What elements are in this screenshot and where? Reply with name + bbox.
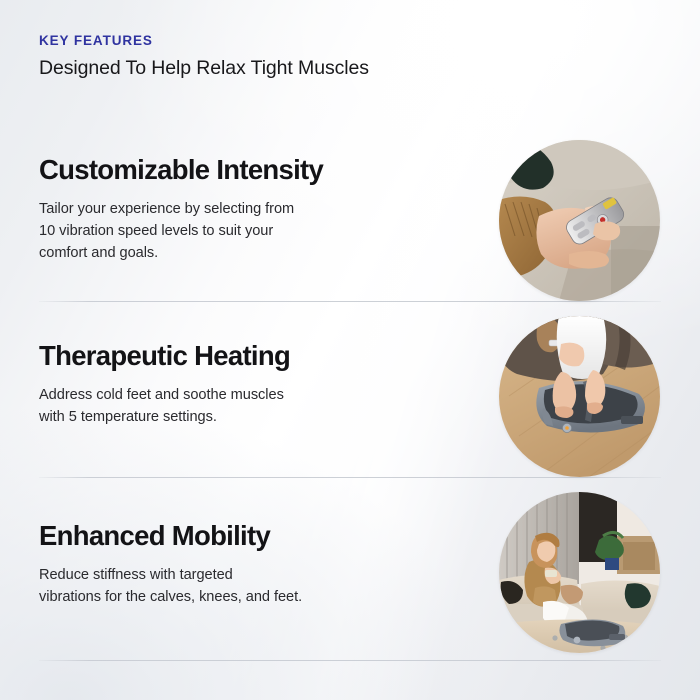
feature-image-feet-on-massager: [499, 316, 660, 477]
feature-title: Therapeutic Heating: [39, 341, 469, 372]
feature-description: Tailor your experience by selecting from…: [39, 198, 469, 265]
feature-block-enhanced-mobility: Enhanced Mobility Reduce stiffness with …: [39, 521, 469, 608]
feature-block-therapeutic-heating: Therapeutic Heating Address cold feet an…: [39, 341, 469, 428]
page-title: Designed To Help Relax Tight Muscles: [39, 56, 369, 80]
feature-title: Enhanced Mobility: [39, 521, 469, 552]
divider: [39, 301, 661, 302]
header: KEY FEATURES Designed To Help Relax Tigh…: [39, 33, 369, 81]
divider: [39, 477, 661, 478]
feature-image-hand-holding-remote: [499, 140, 660, 301]
key-features-panel: KEY FEATURES Designed To Help Relax Tigh…: [0, 0, 700, 700]
hand-remote-illustration: [499, 140, 660, 301]
feature-title: Customizable Intensity: [39, 155, 469, 186]
feet-massager-illustration: [499, 316, 660, 477]
eyebrow-label: KEY FEATURES: [39, 33, 369, 49]
feature-description: Address cold feet and soothe muscles wit…: [39, 384, 469, 428]
living-room-illustration: [499, 492, 660, 653]
divider: [39, 660, 661, 661]
feature-block-customizable-intensity: Customizable Intensity Tailor your exper…: [39, 155, 469, 264]
feature-image-woman-on-sofa: [499, 492, 660, 653]
feature-description: Reduce stiffness with targeted vibration…: [39, 564, 469, 608]
